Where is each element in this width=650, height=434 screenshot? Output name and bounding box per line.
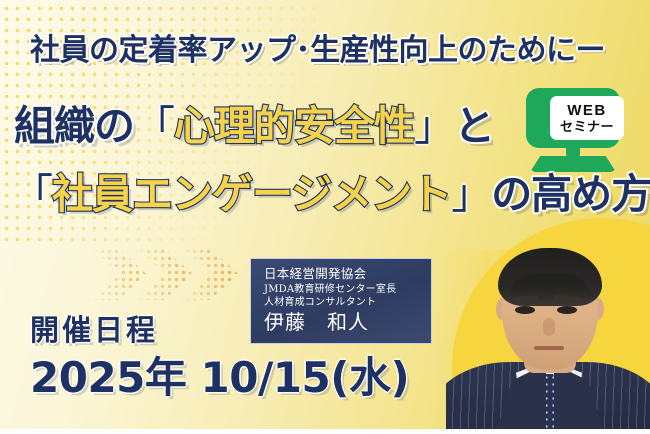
headline2-close-bracket: 」 <box>414 102 454 150</box>
seminar-banner: WEB セミナー 社員の定着率アップ･生産性向上のためにー 組織の「心理的安全性… <box>0 0 650 434</box>
chevron-icon <box>92 248 146 300</box>
web-badge-line1: WEB <box>567 103 607 118</box>
headline-line-2: 組織の「心理的安全性」と <box>14 106 494 147</box>
mouth <box>534 346 564 350</box>
monitor-icon: WEB セミナー <box>526 88 620 148</box>
web-badge-line2: セミナー <box>560 120 614 133</box>
speaker-role-line1: JMDA教育研修センター室長 <box>264 283 431 297</box>
schedule-date: 2025年 10/15(水) <box>30 357 409 399</box>
monitor-screen: WEB セミナー <box>550 96 624 140</box>
headline3-close-bracket: 」 <box>451 170 491 218</box>
headline2-suffix: と <box>454 102 494 150</box>
headline-line-1: 社員の定着率アップ･生産性向上のためにー <box>30 36 605 66</box>
chevron-icon <box>184 248 238 300</box>
chevron-icon <box>138 248 192 300</box>
web-seminar-badge: WEB セミナー <box>512 88 634 174</box>
headline-line-3: 「社員エンゲージメント」の高め方 <box>12 174 650 215</box>
eye-left <box>515 306 535 314</box>
schedule-block: 開催日程 2025年 10/15(水) <box>30 316 409 399</box>
headline2-open-bracket: 「 <box>134 102 174 150</box>
schedule-label: 開催日程 <box>30 316 409 345</box>
headline3-suffix: の高め方 <box>491 170 650 218</box>
speaker-organization: 日本経営開発協会 <box>264 266 431 282</box>
nose <box>543 318 555 336</box>
headline2-prefix: 組織の <box>14 102 134 150</box>
speaker-photo <box>446 232 650 434</box>
eye-right <box>557 306 577 314</box>
headline3-highlight: 社員エンゲージメント <box>52 170 451 218</box>
headline3-open-bracket: 「 <box>12 170 52 218</box>
chevron-arrows-decoration <box>92 248 272 300</box>
bottom-white-strip <box>0 429 650 434</box>
speaker-role-line2: 人材育成コンサルタント <box>264 296 431 310</box>
headline2-highlight: 心理的安全性 <box>174 102 414 150</box>
